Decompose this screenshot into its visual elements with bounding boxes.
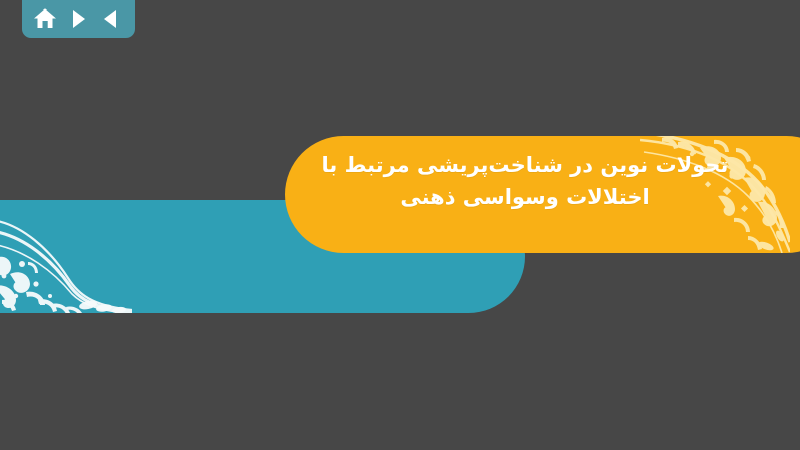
- slide-title-line-1: تحولات نوین در شناخت‌پریشی مرتبط با: [300, 150, 750, 182]
- teal-arabesque-ornament: [0, 200, 132, 313]
- navigation-bar[interactable]: [22, 0, 135, 38]
- slide-canvas: تحولات نوین در شناخت‌پریشی مرتبط با اختل…: [0, 0, 800, 450]
- back-button[interactable]: [97, 5, 125, 33]
- slide-title: تحولات نوین در شناخت‌پریشی مرتبط با اختل…: [300, 150, 750, 213]
- slide-title-line-2: اختلالات وسواسی ذهنی: [300, 182, 750, 214]
- forward-button[interactable]: [64, 5, 92, 33]
- forward-icon: [68, 8, 88, 30]
- back-icon: [101, 8, 121, 30]
- home-button[interactable]: [31, 5, 59, 33]
- home-icon: [33, 7, 57, 31]
